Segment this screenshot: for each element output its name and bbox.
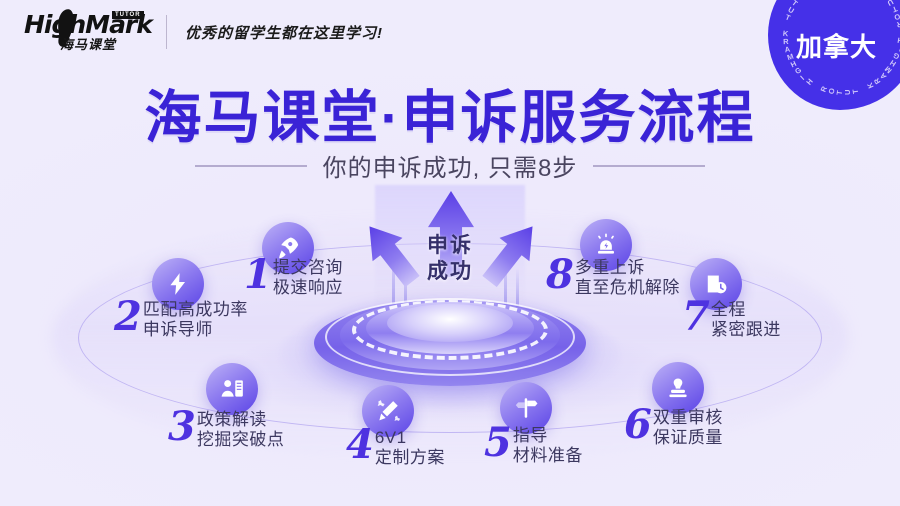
step-number-4: 4 bbox=[346, 428, 373, 462]
page-subtitle: 你的申诉成功, 只需8步 bbox=[323, 148, 578, 183]
step-line1-2: 匹配高成功率 bbox=[143, 300, 248, 320]
step-number-5: 5 bbox=[484, 426, 511, 460]
step-caption-4: 4 6V1 定制方案 bbox=[346, 428, 445, 468]
step-line2-2: 申诉导师 bbox=[143, 320, 248, 340]
step-caption-5: 5 指导 材料准备 bbox=[484, 426, 583, 466]
person-document-icon bbox=[206, 363, 258, 415]
stamp-icon bbox=[652, 362, 704, 414]
brand-logo: HighMark TUTOR 海马课堂 优秀的留学生都在这里学习! bbox=[24, 12, 383, 52]
step-caption-3: 3 政策解读 挖掘突破点 bbox=[168, 410, 284, 450]
step-line2-3: 挖掘突破点 bbox=[197, 430, 285, 450]
step-line2-4: 定制方案 bbox=[375, 448, 445, 468]
brand-slogan: 优秀的留学生都在这里学习! bbox=[185, 22, 383, 43]
step-caption-2: 2 匹配高成功率 申诉导师 bbox=[114, 300, 248, 340]
subtitle-rule-left bbox=[195, 165, 307, 167]
badge-country-label: 加拿大 bbox=[796, 27, 877, 64]
center-disc-top bbox=[387, 304, 513, 342]
logo-tutor-badge: TUTOR bbox=[112, 11, 144, 19]
center-label-line2: 成功 bbox=[280, 259, 620, 285]
step-caption-6: 6 双重审核 保证质量 bbox=[624, 408, 723, 448]
step-line1-7: 全程 bbox=[711, 300, 781, 320]
step-line1-3: 政策解读 bbox=[197, 410, 285, 430]
subtitle-rule-right bbox=[593, 165, 705, 167]
step-line1-5: 指导 bbox=[513, 426, 583, 446]
step-line2-7: 紧密跟进 bbox=[711, 320, 781, 340]
step-line2-5: 材料准备 bbox=[513, 446, 583, 466]
infographic-poster: HighMark TUTOR 海马课堂 优秀的留学生都在这里学习! HIGHMA… bbox=[0, 0, 900, 506]
header-divider bbox=[166, 15, 167, 49]
page-title: 海马课堂·申诉服务流程 bbox=[0, 72, 900, 154]
header-bar: HighMark TUTOR 海马课堂 优秀的留学生都在这里学习! HIGHMA… bbox=[0, 0, 900, 62]
logo-mark: HighMark TUTOR 海马课堂 bbox=[24, 12, 142, 52]
step-number-7: 7 bbox=[682, 300, 709, 334]
step-line1-6: 双重审核 bbox=[653, 408, 723, 428]
step-number-1: 1 bbox=[244, 258, 271, 292]
step-number-2: 2 bbox=[114, 300, 141, 334]
step-number-6: 6 bbox=[624, 408, 651, 442]
step-caption-7: 7 全程 紧密跟进 bbox=[682, 300, 781, 340]
logo-chinese-name: 海马课堂 bbox=[60, 34, 116, 53]
step-number-3: 3 bbox=[168, 410, 195, 444]
page-subtitle-row: 你的申诉成功, 只需8步 bbox=[0, 148, 900, 183]
step-line2-6: 保证质量 bbox=[653, 428, 723, 448]
center-label-line1: 申诉 bbox=[280, 233, 620, 259]
step-line1-4: 6V1 bbox=[375, 428, 445, 448]
center-label: 申诉 成功 bbox=[280, 233, 620, 285]
